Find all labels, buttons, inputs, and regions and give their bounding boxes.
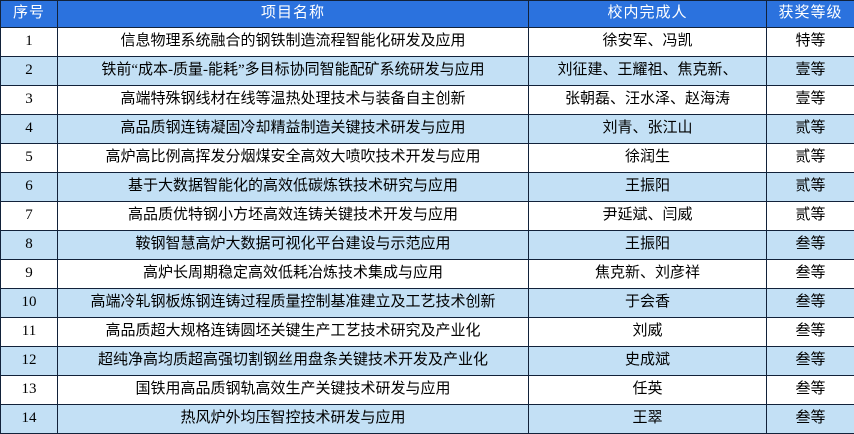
- cell-participants: 尹延斌、闫威: [529, 202, 767, 231]
- cell-seq: 8: [1, 231, 58, 260]
- cell-project-name: 高端冷轧钢板炼钢连铸过程质量控制基准建立及工艺技术创新: [58, 289, 529, 318]
- cell-seq: 13: [1, 376, 58, 405]
- cell-participants: 王振阳: [529, 231, 767, 260]
- column-header-people: 校内完成人: [529, 1, 767, 28]
- cell-project-name: 高品质优特钢小方坯高效连铸关键技术开发与应用: [58, 202, 529, 231]
- cell-project-name: 基于大数据智能化的高效低碳炼铁技术研究与应用: [58, 173, 529, 202]
- cell-seq: 4: [1, 115, 58, 144]
- cell-participants: 刘青、张江山: [529, 115, 767, 144]
- cell-participants: 焦克新、刘彦祥: [529, 260, 767, 289]
- cell-seq: 9: [1, 260, 58, 289]
- cell-award-level: 贰等: [767, 115, 854, 144]
- cell-seq: 7: [1, 202, 58, 231]
- cell-project-name: 高品质钢连铸凝固冷却精益制造关键技术研发与应用: [58, 115, 529, 144]
- column-header-name: 项目名称: [58, 1, 529, 28]
- cell-award-level: 叁等: [767, 289, 854, 318]
- table-row: 5高炉高比例高挥发分烟煤安全高效大喷吹技术开发与应用徐润生贰等: [1, 144, 854, 173]
- cell-award-level: 贰等: [767, 144, 854, 173]
- table-row: 13国铁用高品质钢轨高效生产关键技术研发与应用任英叁等: [1, 376, 854, 405]
- cell-participants: 王振阳: [529, 173, 767, 202]
- cell-project-name: 高炉长周期稳定高效低耗冶炼技术集成与应用: [58, 260, 529, 289]
- cell-seq: 2: [1, 57, 58, 86]
- cell-project-name: 超纯净高均质超高强切割钢丝用盘条关键技术开发及产业化: [58, 347, 529, 376]
- table-row: 10高端冷轧钢板炼钢连铸过程质量控制基准建立及工艺技术创新于会香叁等: [1, 289, 854, 318]
- cell-award-level: 壹等: [767, 57, 854, 86]
- cell-project-name: 热风炉外均压智控技术研发与应用: [58, 405, 529, 434]
- cell-project-name: 高品质超大规格连铸圆坯关键生产工艺技术研究及产业化: [58, 318, 529, 347]
- cell-seq: 6: [1, 173, 58, 202]
- cell-participants: 于会香: [529, 289, 767, 318]
- cell-participants: 刘征建、王耀祖、焦克新、: [529, 57, 767, 86]
- table-row: 1信息物理系统融合的钢铁制造流程智能化研发及应用徐安军、冯凯特等: [1, 28, 854, 57]
- table-row: 9高炉长周期稳定高效低耗冶炼技术集成与应用焦克新、刘彦祥叁等: [1, 260, 854, 289]
- cell-participants: 张朝磊、汪水泽、赵海涛: [529, 86, 767, 115]
- cell-award-level: 贰等: [767, 173, 854, 202]
- table-row: 11高品质超大规格连铸圆坯关键生产工艺技术研究及产业化刘威叁等: [1, 318, 854, 347]
- cell-award-level: 叁等: [767, 318, 854, 347]
- cell-award-level: 叁等: [767, 376, 854, 405]
- table-row: 12超纯净高均质超高强切割钢丝用盘条关键技术开发及产业化史成斌叁等: [1, 347, 854, 376]
- cell-participants: 徐安军、冯凯: [529, 28, 767, 57]
- cell-seq: 1: [1, 28, 58, 57]
- cell-seq: 5: [1, 144, 58, 173]
- cell-award-level: 壹等: [767, 86, 854, 115]
- column-header-seq: 序号: [1, 1, 58, 28]
- cell-award-level: 叁等: [767, 231, 854, 260]
- table-header-row: 序号 项目名称 校内完成人 获奖等级: [1, 1, 854, 28]
- table-row: 8鞍钢智慧高炉大数据可视化平台建设与示范应用王振阳叁等: [1, 231, 854, 260]
- cell-project-name: 铁前“成本-质量-能耗”多目标协同智能配矿系统研发与应用: [58, 57, 529, 86]
- cell-seq: 12: [1, 347, 58, 376]
- table-row: 6基于大数据智能化的高效低碳炼铁技术研究与应用王振阳贰等: [1, 173, 854, 202]
- cell-participants: 王翠: [529, 405, 767, 434]
- table-header: 序号 项目名称 校内完成人 获奖等级: [1, 1, 854, 28]
- cell-seq: 14: [1, 405, 58, 434]
- cell-award-level: 叁等: [767, 405, 854, 434]
- cell-project-name: 鞍钢智慧高炉大数据可视化平台建设与示范应用: [58, 231, 529, 260]
- cell-participants: 史成斌: [529, 347, 767, 376]
- cell-award-level: 叁等: [767, 260, 854, 289]
- cell-project-name: 高炉高比例高挥发分烟煤安全高效大喷吹技术开发与应用: [58, 144, 529, 173]
- award-projects-table: 序号 项目名称 校内完成人 获奖等级 1信息物理系统融合的钢铁制造流程智能化研发…: [0, 0, 854, 434]
- cell-award-level: 特等: [767, 28, 854, 57]
- cell-project-name: 高端特殊钢线材在线等温热处理技术与装备自主创新: [58, 86, 529, 115]
- cell-seq: 3: [1, 86, 58, 115]
- cell-award-level: 叁等: [767, 347, 854, 376]
- table-body: 1信息物理系统融合的钢铁制造流程智能化研发及应用徐安军、冯凯特等2铁前“成本-质…: [1, 28, 854, 434]
- column-header-level: 获奖等级: [767, 1, 854, 28]
- cell-participants: 任英: [529, 376, 767, 405]
- cell-project-name: 信息物理系统融合的钢铁制造流程智能化研发及应用: [58, 28, 529, 57]
- cell-award-level: 贰等: [767, 202, 854, 231]
- cell-participants: 徐润生: [529, 144, 767, 173]
- cell-project-name: 国铁用高品质钢轨高效生产关键技术研发与应用: [58, 376, 529, 405]
- table-row: 14热风炉外均压智控技术研发与应用王翠叁等: [1, 405, 854, 434]
- table-row: 3高端特殊钢线材在线等温热处理技术与装备自主创新张朝磊、汪水泽、赵海涛壹等: [1, 86, 854, 115]
- cell-seq: 11: [1, 318, 58, 347]
- table-row: 4高品质钢连铸凝固冷却精益制造关键技术研发与应用刘青、张江山贰等: [1, 115, 854, 144]
- cell-seq: 10: [1, 289, 58, 318]
- cell-participants: 刘威: [529, 318, 767, 347]
- table-row: 2铁前“成本-质量-能耗”多目标协同智能配矿系统研发与应用刘征建、王耀祖、焦克新…: [1, 57, 854, 86]
- table-row: 7高品质优特钢小方坯高效连铸关键技术开发与应用尹延斌、闫威贰等: [1, 202, 854, 231]
